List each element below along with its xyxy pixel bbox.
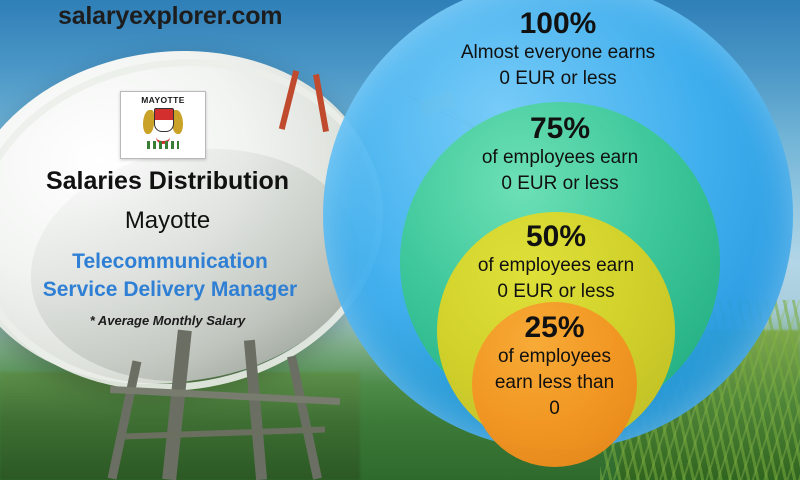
bubble-25-line1: of employees (472, 344, 637, 370)
bubble-100-line2: 0 EUR or less (323, 66, 793, 92)
country-label: Mayotte (25, 207, 310, 235)
bubble-100-line1: Almost everyone earns (323, 40, 793, 66)
job-title-line1: Telecommunication (15, 248, 325, 276)
bubble-50-percent-label: 50% (437, 221, 675, 253)
bubble-75-labels: 75% of employees earn 0 EUR or less (400, 113, 720, 197)
salary-footnote: * Average Monthly Salary (25, 313, 310, 328)
ylang-flowers-icon (147, 141, 179, 149)
seahorse-left-icon (143, 110, 154, 134)
job-title-line2: Service Delivery Manager (15, 276, 325, 304)
mayotte-flag-badge: MAYOTTE (120, 91, 206, 159)
flag-label: MAYOTTE (121, 95, 205, 105)
bubble-25-line2: earn less than (472, 370, 637, 396)
site-brand-text: salaryexplorer.com (58, 2, 282, 30)
bubble-50-labels: 50% of employees earn 0 EUR or less (437, 221, 675, 305)
bubble-75-percent-label: 75% (400, 113, 720, 145)
bubble-25-labels: 25% of employees earn less than 0 (472, 312, 637, 422)
bubble-100-labels: 100% Almost everyone earns 0 EUR or less (323, 8, 793, 92)
bubble-25-percent-label: 25% (472, 312, 637, 344)
bubble-25-line3: 0 (472, 396, 637, 422)
job-title: Telecommunication Service Delivery Manag… (15, 248, 325, 304)
bubble-50-line1: of employees earn (437, 253, 675, 279)
bubble-100-percent-label: 100% (323, 8, 793, 40)
bubble-75-line1: of employees earn (400, 145, 720, 171)
site-brand: salaryexplorer.com (58, 2, 282, 31)
infographic-root: salaryexplorer.com MAYOTTE Salaries Dist… (0, 0, 800, 480)
shield-icon (154, 108, 174, 132)
mayotte-coat-of-arms-icon (143, 107, 183, 151)
page-title: Salaries Distribution (25, 167, 310, 196)
bubble-50-line2: 0 EUR or less (437, 279, 675, 305)
bubble-75-line2: 0 EUR or less (400, 171, 720, 197)
